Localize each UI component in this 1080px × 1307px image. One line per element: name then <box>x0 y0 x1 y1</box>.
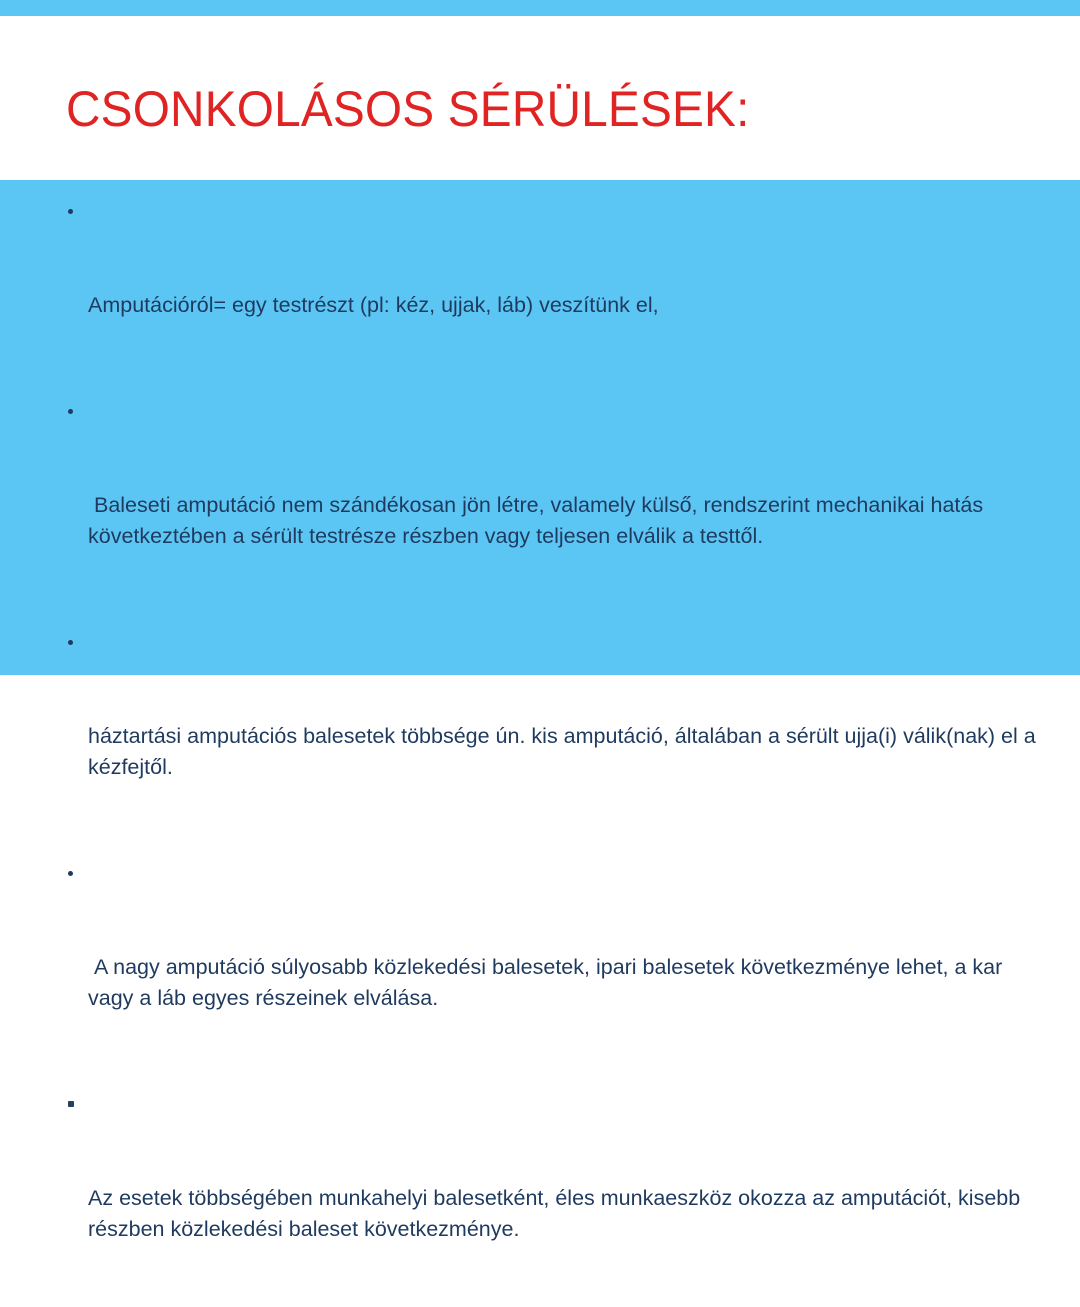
top-accent-bar <box>0 0 1080 16</box>
slide-title: CSONKOLÁSOS SÉRÜLÉSEK: <box>66 80 983 138</box>
bullet-item-text: Baleseti amputáció nem szándékosan jön l… <box>88 490 1042 552</box>
dot-bullet-icon <box>68 640 73 645</box>
dot-bullet-icon <box>68 409 73 414</box>
bullet-item-3: háztartási amputációs balesetek többsége… <box>62 628 1042 845</box>
square-bullet-icon <box>68 1101 74 1107</box>
bullet-list: Amputációról= egy testrészt (pl: kéz, uj… <box>62 197 1042 1307</box>
title-band: CSONKOLÁSOS SÉRÜLÉSEK: <box>0 16 1080 180</box>
bullet-item-text: háztartási amputációs balesetek többsége… <box>88 721 1042 783</box>
content-panel: Amputációról= egy testrészt (pl: kéz, uj… <box>0 180 1080 675</box>
bullet-item-4: A nagy amputáció súlyosabb közlekedési b… <box>62 859 1042 1076</box>
bullet-item-text: Az esetek többségében munkahelyi baleset… <box>88 1183 1042 1245</box>
bullet-item-text: Amputációról= egy testrészt (pl: kéz, uj… <box>88 290 1042 321</box>
dot-bullet-icon <box>68 871 73 876</box>
bullet-item-text: A nagy amputáció súlyosabb közlekedési b… <box>88 952 1042 1014</box>
presentation-slide: CSONKOLÁSOS SÉRÜLÉSEK: Amputációról= egy… <box>0 0 1080 675</box>
bullet-item-2: Baleseti amputáció nem szándékosan jön l… <box>62 397 1042 614</box>
dot-bullet-icon <box>68 209 73 214</box>
bullet-item-5: Az esetek többségében munkahelyi baleset… <box>62 1090 1042 1307</box>
bullet-item-1: Amputációról= egy testrészt (pl: kéz, uj… <box>62 197 1042 383</box>
